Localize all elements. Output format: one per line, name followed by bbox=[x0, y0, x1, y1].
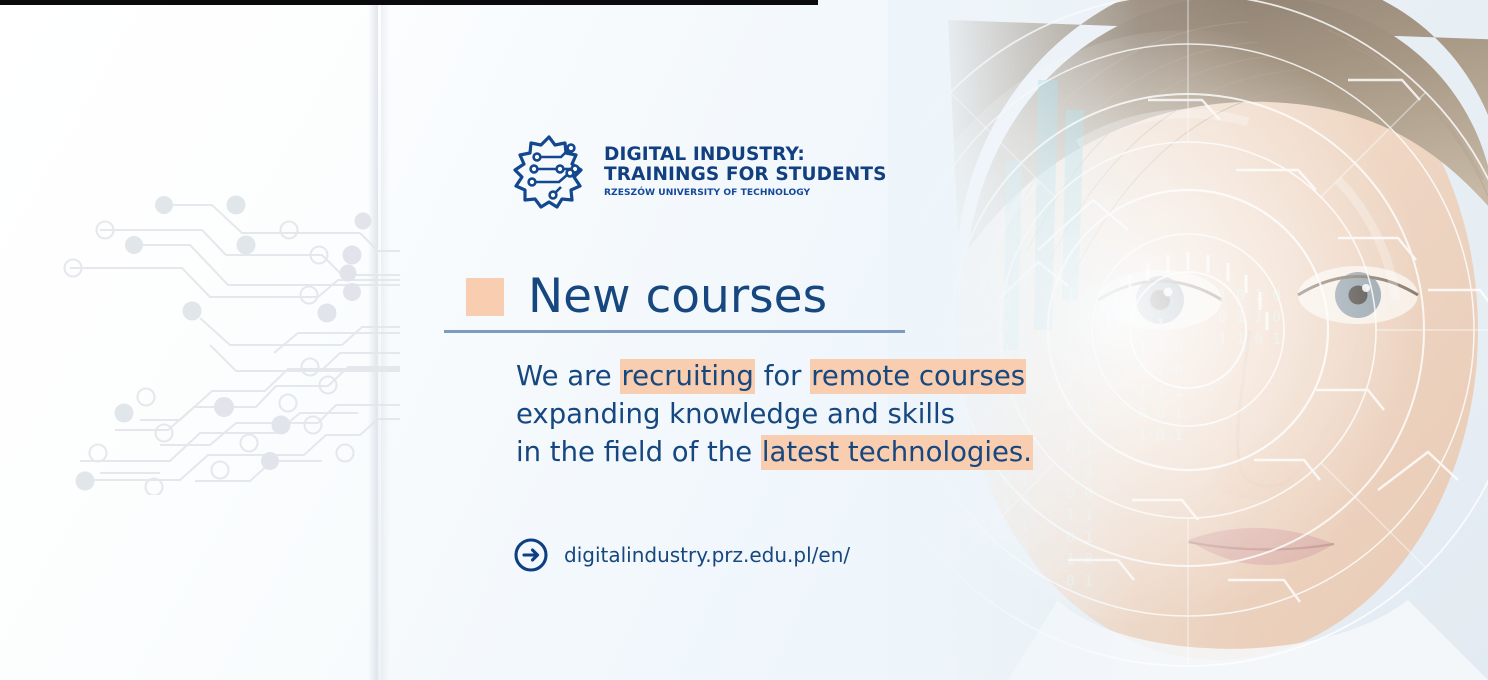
content-column: DIGITAL INDUSTRY: TRAININGS FOR STUDENTS… bbox=[0, 0, 1000, 680]
page-title: New courses bbox=[528, 273, 827, 320]
highlight-recruiting: recruiting bbox=[620, 359, 754, 394]
headline-divider bbox=[444, 330, 905, 333]
website-link[interactable]: digitalindustry.prz.edu.pl/en/ bbox=[513, 537, 850, 573]
body-line-2: expanding knowledge and skills bbox=[516, 395, 1033, 433]
logo-subtitle: RZESZÓW UNIVERSITY OF TECHNOLOGY bbox=[604, 188, 887, 198]
body-copy: We are recruiting for remote courses exp… bbox=[516, 357, 1033, 471]
body-line-1-mid: for bbox=[755, 360, 810, 392]
logo-text-block: DIGITAL INDUSTRY: TRAININGS FOR STUDENTS… bbox=[604, 133, 887, 198]
headline-row: New courses bbox=[466, 273, 827, 320]
promotional-banner: 1 0 1 00 1 1 0 1 1 0 10 0 1 1 1 0 0 10 1… bbox=[0, 0, 1488, 680]
peach-square-bullet bbox=[466, 278, 504, 316]
highlight-latest-technologies: latest technologies. bbox=[761, 435, 1033, 470]
circle-arrow-right-icon[interactable] bbox=[513, 537, 549, 573]
top-black-bar bbox=[0, 0, 818, 5]
gear-circuit-icon bbox=[505, 133, 590, 211]
logo-title-line-2: TRAININGS FOR STUDENTS bbox=[604, 165, 887, 185]
logo-title-line-1: DIGITAL INDUSTRY: bbox=[604, 145, 887, 165]
body-line-1: We are recruiting for remote courses bbox=[516, 357, 1033, 395]
website-url-text[interactable]: digitalindustry.prz.edu.pl/en/ bbox=[564, 543, 850, 567]
body-line-3: in the field of the latest technologies. bbox=[516, 433, 1033, 471]
highlight-remote-courses: remote courses bbox=[810, 359, 1026, 394]
body-line-3-pre: in the field of the bbox=[516, 436, 761, 468]
body-line-1-pre: We are bbox=[516, 360, 620, 392]
project-logo: DIGITAL INDUSTRY: TRAININGS FOR STUDENTS… bbox=[505, 133, 887, 211]
